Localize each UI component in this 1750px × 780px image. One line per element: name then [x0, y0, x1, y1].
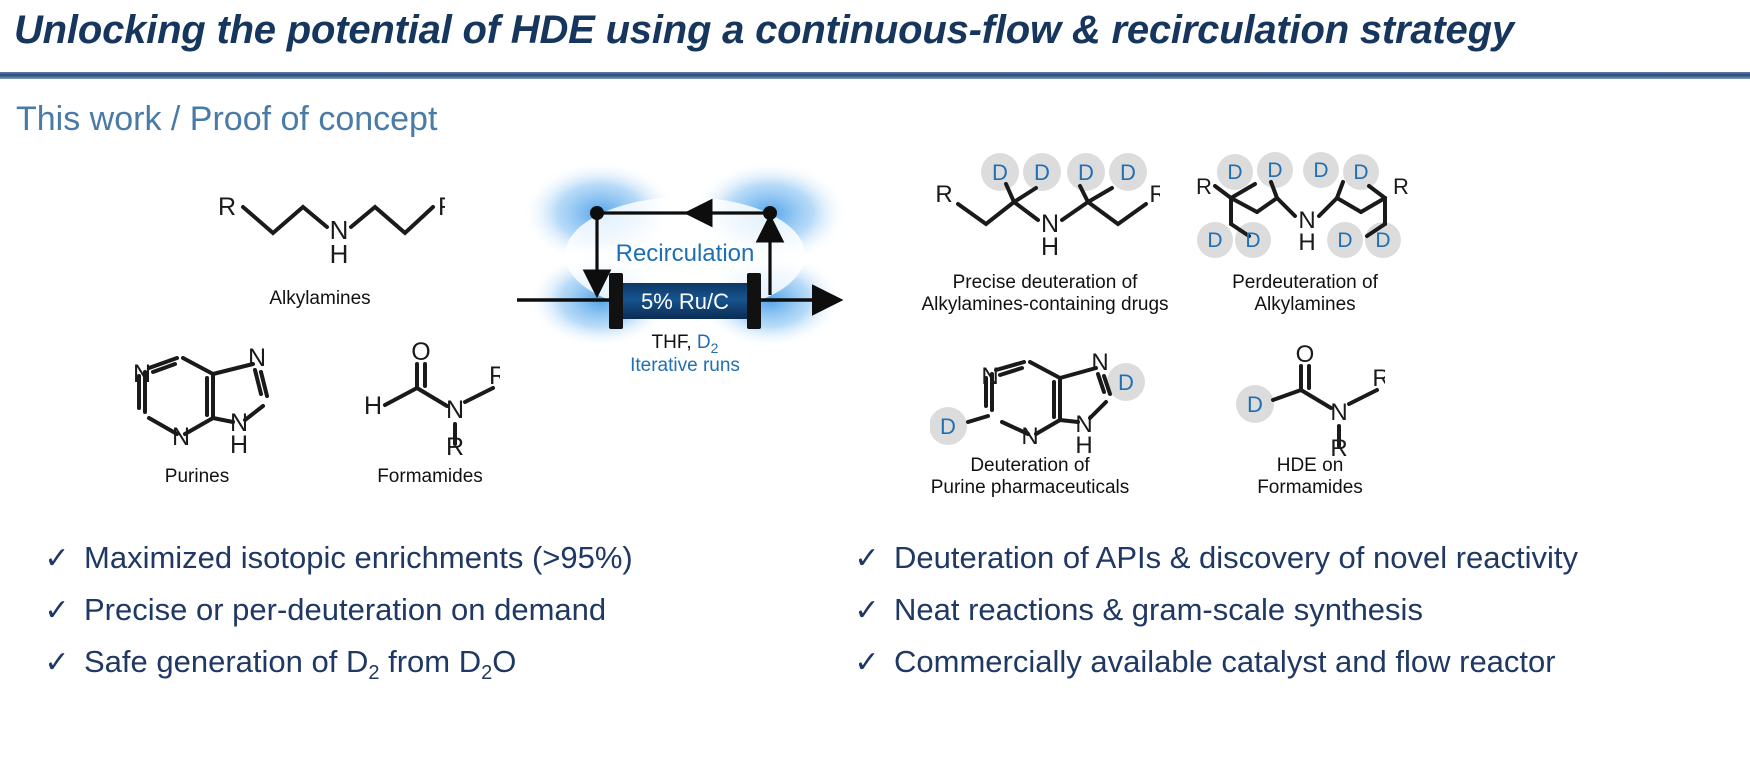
caption-line-2: Alkylamines-containing drugs	[900, 294, 1190, 316]
caption-line-1: HDE on	[1210, 455, 1410, 477]
caption-line-2: Formamides	[1210, 477, 1410, 499]
highlight-item: ✓ Deuteration of APIs & discovery of nov…	[840, 540, 1578, 592]
svg-text:D: D	[940, 414, 956, 439]
atom-label-r: R	[438, 193, 445, 221]
svg-text:D: D	[1245, 229, 1260, 252]
subscript: 2	[368, 662, 379, 684]
loop-junction-dot	[763, 206, 777, 220]
highlight-text: Commercially available catalyst and flow…	[894, 644, 1556, 680]
structure-formamide: H O N R R	[355, 340, 500, 455]
highlight-item: ✓ Precise or per-deuteration on demand	[30, 592, 633, 644]
atom-label-h: H	[364, 392, 382, 420]
atom-label-n: N	[981, 363, 998, 390]
atom-label-h: H	[230, 431, 248, 453]
svg-text:D: D	[1353, 161, 1368, 184]
svg-text:D: D	[1267, 159, 1282, 182]
caption-formamides: Formamides	[330, 466, 530, 488]
svg-text:D: D	[1227, 161, 1242, 184]
atom-label-n: N	[172, 423, 190, 451]
gas-subscript: 2	[711, 340, 719, 356]
recirculation-label: Recirculation	[616, 240, 755, 267]
structure-precise-deuterated-amine: R R N H DD DD	[930, 150, 1160, 260]
caption-purines: Purines	[112, 466, 282, 488]
svg-text:D: D	[992, 160, 1008, 185]
subscript: 2	[481, 662, 492, 684]
atom-label-n: N	[1330, 399, 1347, 426]
highlight-item: ✓ Commercially available catalyst and fl…	[840, 644, 1578, 696]
title-divider	[0, 72, 1750, 79]
caption-formamide-hde: HDE on Formamides	[1210, 455, 1410, 499]
check-icon: ✓	[30, 541, 84, 576]
atom-label-h: H	[1041, 233, 1059, 260]
check-icon: ✓	[840, 645, 894, 680]
caption-line-1: Perdeuteration of	[1185, 272, 1425, 294]
svg-text:D: D	[1078, 160, 1094, 185]
highlight-text-part: O	[492, 644, 516, 679]
check-icon: ✓	[30, 645, 84, 680]
atom-label-n: N	[446, 396, 464, 424]
check-icon: ✓	[840, 593, 894, 628]
atom-label-o: O	[1296, 342, 1315, 368]
atom-label-r: R	[935, 181, 952, 208]
cartridge-label: 5% Ru/C	[641, 289, 729, 314]
check-icon: ✓	[840, 541, 894, 576]
svg-text:D: D	[1118, 370, 1134, 395]
caption-precise-deuteration: Precise deuteration of Alkylamines-conta…	[900, 272, 1190, 316]
loop-junction-dot	[590, 206, 604, 220]
highlights-left-column: ✓ Maximized isotopic enrichments (>95%) …	[30, 540, 633, 696]
svg-text:D: D	[1337, 229, 1352, 252]
highlights-right-column: ✓ Deuteration of APIs & discovery of nov…	[840, 540, 1578, 696]
highlight-text: Maximized isotopic enrichments (>95%)	[84, 540, 633, 576]
atom-label-r: R	[1372, 365, 1385, 392]
highlight-text: Safe generation of D2 from D2O	[84, 644, 516, 685]
highlight-item: ✓ Neat reactions & gram-scale synthesis	[840, 592, 1578, 644]
page-title: Unlocking the potential of HDE using a c…	[14, 8, 1734, 53]
highlight-item: ✓ Safe generation of D2 from D2O	[30, 644, 633, 696]
caption-line-2: Alkylamines	[1185, 294, 1425, 316]
svg-text:D: D	[1313, 159, 1328, 182]
highlight-text: Deuteration of APIs & discovery of novel…	[894, 540, 1578, 576]
cartridge-cap-right	[747, 273, 761, 329]
structure-deuterated-purine: N N N N H DD	[930, 340, 1150, 455]
highlight-text: Precise or per-deuteration on demand	[84, 592, 606, 628]
caption-line-1: Precise deuteration of	[900, 272, 1190, 294]
structure-deuterated-formamide: O N R R D	[1235, 342, 1385, 457]
svg-text:D: D	[1375, 229, 1390, 252]
solvent-label: THF,	[652, 332, 697, 353]
svg-text:D: D	[1034, 160, 1050, 185]
atom-label-r: R	[446, 433, 464, 455]
svg-text:D: D	[1207, 229, 1222, 252]
atom-label-r: R	[489, 362, 500, 390]
iterative-runs-label: Iterative runs	[560, 355, 810, 377]
structure-alkylamine: R R N H	[205, 185, 445, 265]
highlight-text: Neat reactions & gram-scale synthesis	[894, 592, 1423, 628]
atom-label-h: H	[1298, 229, 1315, 256]
atom-label-r: R	[1149, 181, 1160, 208]
atom-label-n: N	[1021, 423, 1038, 450]
atom-label-h: H	[330, 239, 349, 265]
deuterium-label: D	[1247, 392, 1263, 417]
structure-perdeuterated-amine: R R N H DD DD DD DD	[1195, 150, 1410, 270]
check-icon: ✓	[30, 593, 84, 628]
highlight-item: ✓ Maximized isotopic enrichments (>95%)	[30, 540, 633, 592]
cartridge-cap-left	[609, 273, 623, 329]
highlight-text-part: Safe generation of D	[84, 644, 368, 679]
atom-label-r: R	[1196, 174, 1212, 199]
atom-label-o: O	[411, 340, 430, 366]
structure-purine: N N N N H	[115, 338, 285, 453]
caption-line-2: Purine pharmaceuticals	[905, 477, 1155, 499]
gas-label: D	[697, 332, 711, 353]
atom-label-n: N	[248, 344, 266, 372]
caption-alkylamines: Alkylamines	[200, 288, 440, 310]
atom-label-n: N	[133, 360, 151, 388]
highlight-text-part: from D	[379, 644, 481, 679]
atom-label-r: R	[218, 193, 236, 221]
caption-line-1: Deuteration of	[905, 455, 1155, 477]
flow-reactor-diagram: Recirculation 5% Ru/C	[505, 155, 875, 355]
atom-label-n: N	[1091, 349, 1108, 376]
svg-text:D: D	[1120, 160, 1136, 185]
atom-label-r: R	[1330, 435, 1347, 457]
highlights-section: ✓ Maximized isotopic enrichments (>95%) …	[0, 540, 1750, 780]
caption-perdeuteration: Perdeuteration of Alkylamines	[1185, 272, 1425, 316]
section-subtitle: This work / Proof of concept	[16, 100, 437, 139]
atom-label-h: H	[1075, 432, 1092, 455]
title-bar: Unlocking the potential of HDE using a c…	[0, 0, 1750, 82]
atom-label-r: R	[1393, 174, 1409, 199]
caption-purine-deuteration: Deuteration of Purine pharmaceuticals	[905, 455, 1155, 499]
